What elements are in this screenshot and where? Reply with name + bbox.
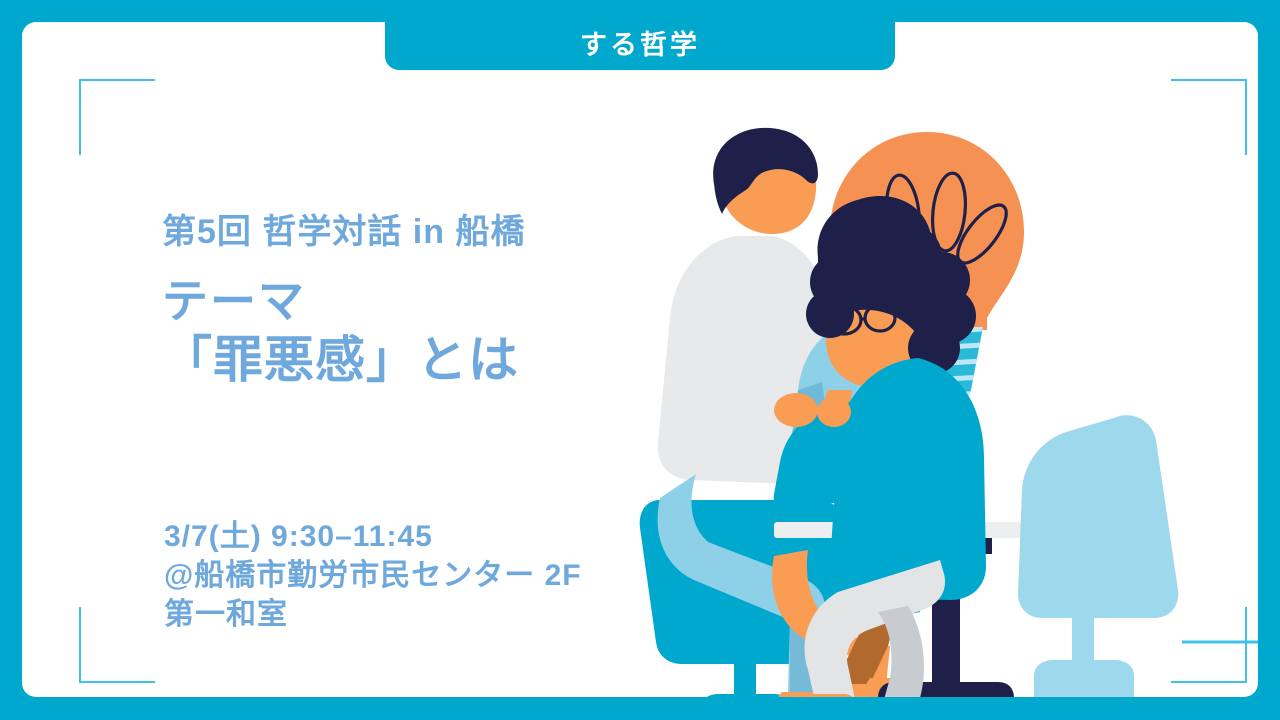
discussion-illustration xyxy=(622,122,1258,697)
event-datetime: 3/7(土) 9:30–11:45 xyxy=(164,517,582,556)
poster-canvas: 第5回 哲学対話 in 船橋 テーマ 「罪悪感」とは 3/7(土) 9:30–1… xyxy=(0,0,1280,720)
theme-value: 「罪悪感」とは xyxy=(162,332,682,390)
corner-bracket-top-right xyxy=(1171,79,1247,155)
theme-label: テーマ xyxy=(162,275,682,328)
header-banner-label: する哲学 xyxy=(580,23,700,62)
chair-right xyxy=(1018,415,1178,697)
corner-bracket-top-left xyxy=(79,79,155,155)
corner-bracket-bottom-right xyxy=(1171,607,1247,683)
event-title: 第5回 哲学対話 in 船橋 xyxy=(162,212,682,253)
event-details: 3/7(土) 9:30–11:45 @船橋市勤労市民センター 2F 第一和室 xyxy=(164,517,582,634)
event-venue: @船橋市勤労市民センター 2F xyxy=(164,556,582,595)
headline-group: 第5回 哲学対話 in 船橋 テーマ 「罪悪感」とは xyxy=(162,212,682,389)
header-banner: する哲学 xyxy=(385,0,895,70)
event-room: 第一和室 xyxy=(164,595,582,634)
white-panel: 第5回 哲学対話 in 船橋 テーマ 「罪悪感」とは 3/7(土) 9:30–1… xyxy=(22,22,1258,697)
corner-bracket-bottom-left xyxy=(79,607,155,683)
